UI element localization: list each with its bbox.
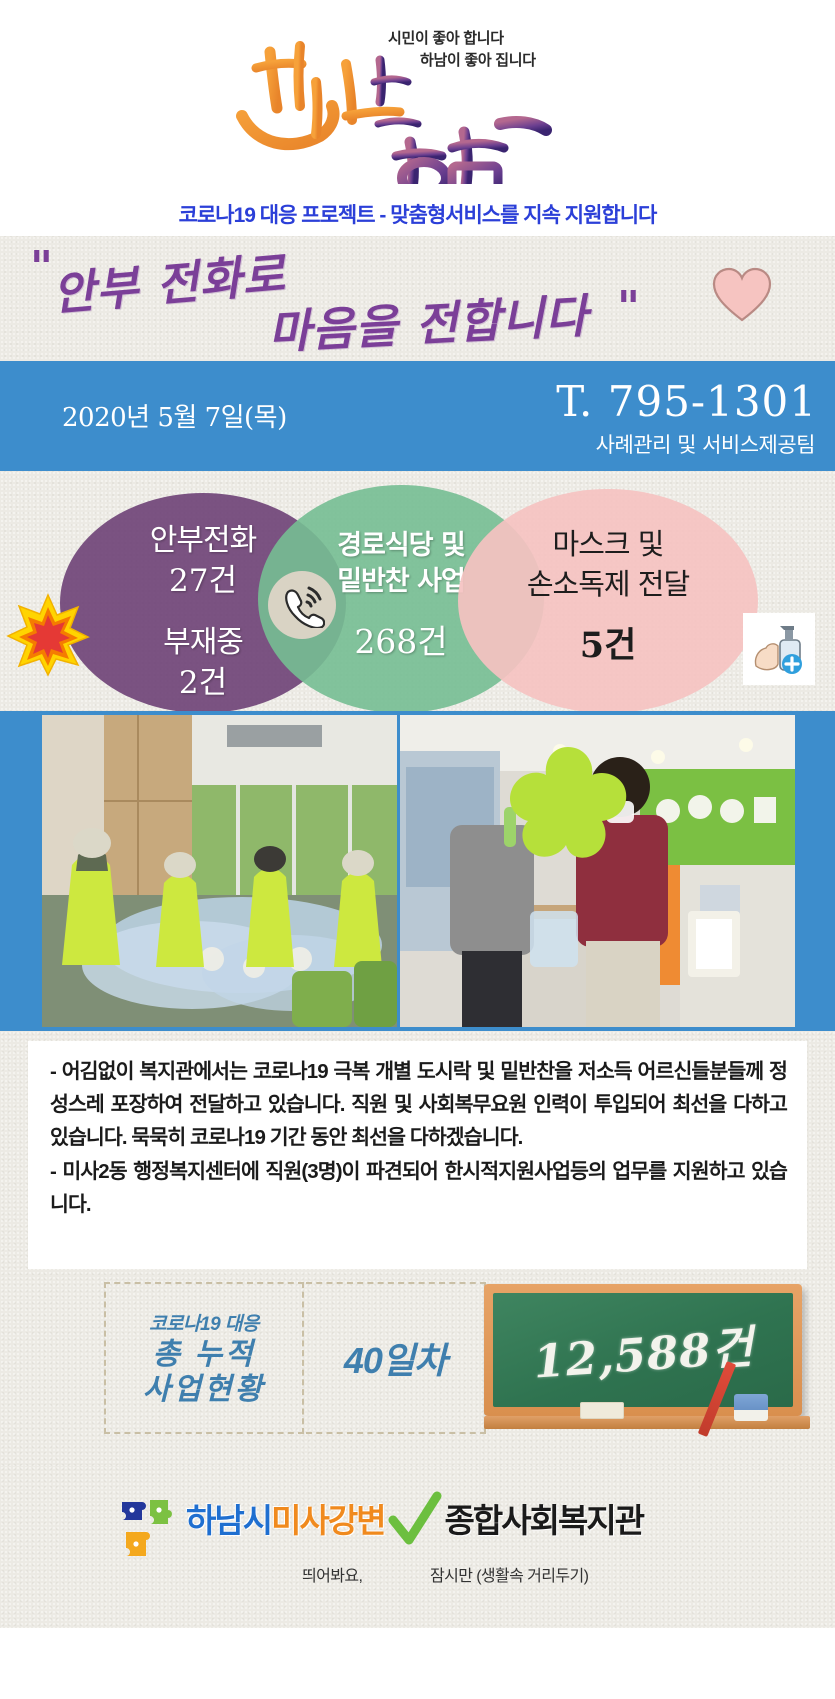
tagline-line-2: 하남이 좋아 집니다 (388, 50, 648, 72)
banner-line-1: 안부 전화로 (50, 238, 288, 324)
logo-tagline: 시민이 좋아 합니다 하남이 좋아 집니다 (388, 28, 648, 72)
photo-strip (0, 711, 835, 1031)
stat-label-line-2: 사업현황 (143, 1373, 265, 1408)
footer-brand-row: 하남시미사강변 종합사회복지관 (118, 1490, 643, 1564)
photo-meal-packing-render (42, 715, 397, 1027)
phone-ringing-badge (268, 571, 336, 639)
heart-icon (711, 266, 773, 324)
supplies-title-1: 마스크 및 (458, 521, 758, 563)
brand-part-hanam: 하남시 (186, 1502, 271, 1539)
brand-name-primary: 하남시미사강변 (186, 1490, 385, 1537)
day-counter-box: 40일차 (306, 1282, 486, 1434)
report-date: 2020년 5월 7일(목) (62, 397, 287, 434)
body-text-section: - 어김없이 복지관에서는 코로나19 극복 개별 도시락 및 밑반찬을 저소득… (0, 1031, 835, 1276)
blue-eraser-icon (734, 1394, 768, 1420)
venn-circle-supplies: 마스크 및 손소독제 전달 5건 (458, 489, 758, 711)
footer-note-1: 띄어봐요, (302, 1562, 362, 1586)
starburst-icon (6, 593, 90, 677)
hand-sanitizer-glyph (748, 618, 810, 680)
chalkboard: 12,588건 (484, 1276, 814, 1441)
green-blob-mask-icon (498, 743, 638, 883)
tagline-line-1: 시민이 좋아 합니다 (388, 28, 648, 50)
logo-area: 시민이 좋아 합니다 하남이 좋아 집니다 (0, 0, 835, 192)
stat-label-box: 코로나19 대응 총 누적 사업현황 (104, 1282, 304, 1434)
hand-sanitizer-icon (743, 613, 815, 685)
project-subtitle: 코로나19 대응 프로젝트 - 맞춤형서비스를 지속 지원합니다 (179, 199, 657, 229)
body-paragraph-2: - 미사2동 행정복지센터에 직원(3명)이 파견되어 한시적지원사업등의 업무… (50, 1155, 787, 1221)
team-name: 사례관리 및 서비스제공팀 (596, 429, 815, 459)
stat-label-small: 코로나19 대응 (149, 1309, 259, 1336)
chalk-eraser-icon (580, 1402, 624, 1419)
handwriting-banner: " 안부 전화로 마음을 전합니다 " (0, 236, 835, 361)
photo-delivery-handover (400, 715, 795, 1027)
venn-diagram: 안부전화 27건 부재중 2건 경로식당 및 밑반찬 사업 268건 마스크 및… (0, 471, 835, 711)
brand-part-misa: 미사강변 (271, 1502, 384, 1539)
stat-label-line-1: 총 누적 (152, 1338, 255, 1373)
cumulative-stats-section: 코로나19 대응 총 누적 사업현황 40일차 12,588건 (0, 1276, 835, 1466)
photo-meal-packing (42, 715, 397, 1027)
brand-name-secondary: 종합사회복지관 (445, 1490, 644, 1537)
body-text-card: - 어김없이 복지관에서는 코로나19 극복 개별 도시락 및 밑반찬을 저소득… (28, 1041, 807, 1269)
poster-footer: 하남시미사강변 종합사회복지관 띄어봐요, 잠시만 (생활속 거리두기) (0, 1466, 835, 1628)
banner-line-2: 마음을 전합니다 (266, 280, 589, 363)
contact-phone: T. 795-1301 (556, 377, 817, 426)
supplies-count: 5건 (458, 617, 758, 668)
info-band: 2020년 5월 7일(목) T. 795-1301 사례관리 및 서비스제공팀 (0, 361, 835, 471)
project-subtitle-bar: 코로나19 대응 프로젝트 - 맞춤형서비스를 지속 지원합니다 (0, 192, 835, 236)
footer-note-2: 잠시만 (생활속 거리두기) (430, 1562, 588, 1586)
phone-ringing-icon (279, 582, 325, 628)
body-paragraph-1: - 어김없이 복지관에서는 코로나19 극복 개별 도시락 및 밑반찬을 저소득… (50, 1055, 787, 1155)
quote-close-mark: " (617, 282, 640, 333)
day-counter-value: 40일차 (344, 1332, 446, 1384)
poster-header: 시민이 좋아 합니다 하남이 좋아 집니다 (0, 0, 835, 192)
chalkboard-surface: 12,588건 (493, 1293, 793, 1407)
green-check-icon (387, 1490, 443, 1552)
supplies-title-2: 손소독제 전달 (458, 561, 758, 603)
puzzle-logo-icon (118, 1496, 180, 1564)
